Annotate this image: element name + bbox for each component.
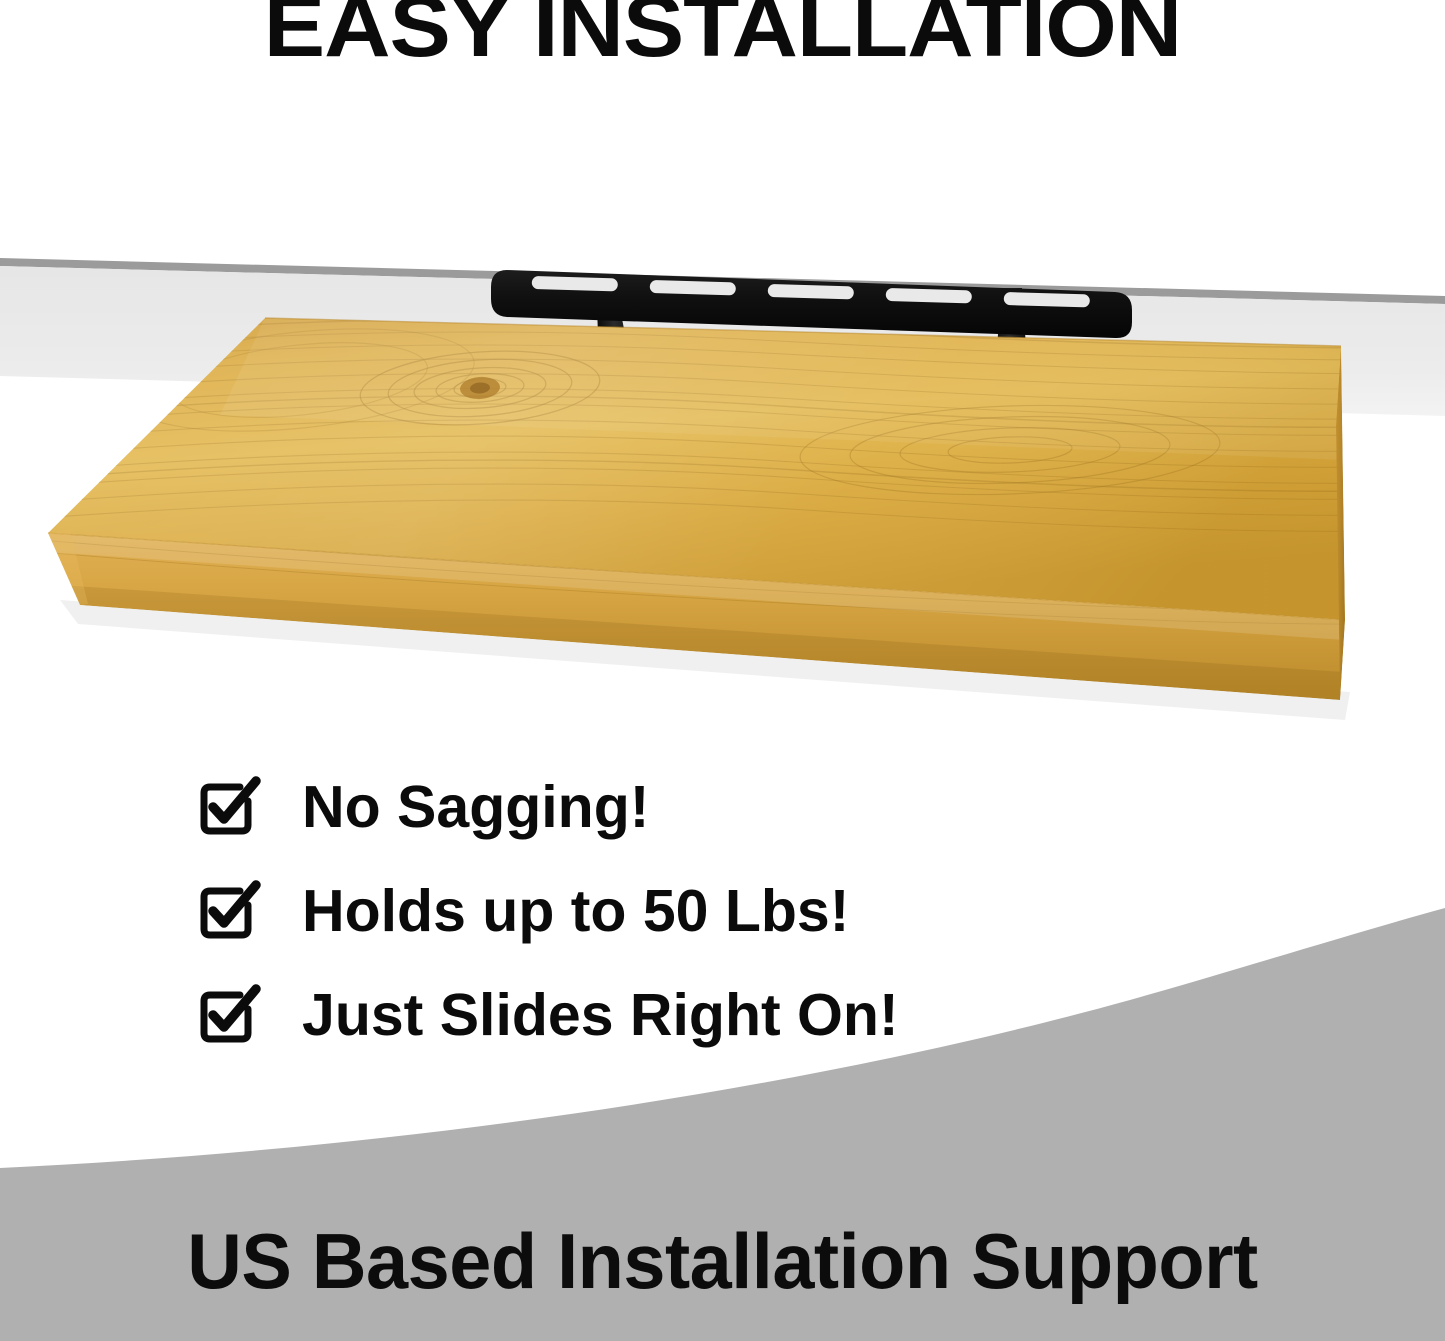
product-photo (0, 200, 1445, 760)
checkbox-checked-icon (196, 775, 260, 839)
product-marketing-image: EASY INSTALLATION (0, 0, 1445, 1341)
banner-label: US Based Installation Support (22, 1222, 1424, 1300)
feature-label: No Sagging! (302, 778, 649, 837)
list-item: No Sagging! (196, 755, 1096, 859)
page-title: EASY INSTALLATION (0, 0, 1445, 70)
